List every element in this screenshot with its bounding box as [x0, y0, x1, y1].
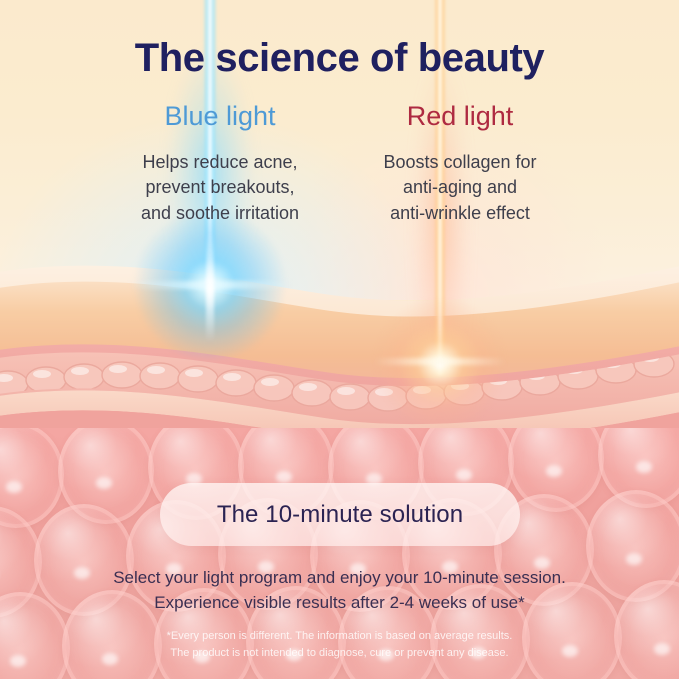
disclaimer-text: *Every person is different. The informat…	[0, 628, 679, 662]
red-light-column: Red light Boosts collagen for anti-aging…	[330, 102, 590, 226]
blue-light-column: Blue light Helps reduce acne, prevent br…	[90, 102, 350, 226]
red-light-description-line-1: Boosts collagen for	[330, 150, 590, 176]
footer-line-1: Select your light program and enjoy your…	[0, 566, 679, 591]
footer-line-2: Experience visible results after 2-4 wee…	[0, 591, 679, 616]
ten-minute-solution-badge[interactable]: The 10-minute solution	[160, 483, 520, 546]
skincare-infographic: The science of beauty Blue light Helps r…	[0, 0, 679, 679]
disclaimer-line-1: *Every person is different. The informat…	[0, 628, 679, 645]
page-title: The science of beauty	[0, 36, 679, 81]
content-layer: The science of beauty Blue light Helps r…	[0, 0, 679, 679]
blue-light-heading: Blue light	[90, 102, 350, 132]
blue-light-description-line-2: prevent breakouts,	[90, 175, 350, 201]
blue-light-description-line-3: and soothe irritation	[90, 201, 350, 227]
red-light-description-line-3: anti-wrinkle effect	[330, 201, 590, 227]
ten-minute-solution-label: The 10-minute solution	[217, 501, 463, 529]
blue-light-description-line-1: Helps reduce acne,	[90, 150, 350, 176]
disclaimer-line-2: The product is not intended to diagnose,…	[0, 645, 679, 662]
blue-light-description: Helps reduce acne, prevent breakouts, an…	[90, 150, 350, 227]
red-light-heading: Red light	[330, 102, 590, 132]
footer-text: Select your light program and enjoy your…	[0, 566, 679, 615]
red-light-description: Boosts collagen for anti-aging and anti-…	[330, 150, 590, 227]
red-light-description-line-2: anti-aging and	[330, 175, 590, 201]
